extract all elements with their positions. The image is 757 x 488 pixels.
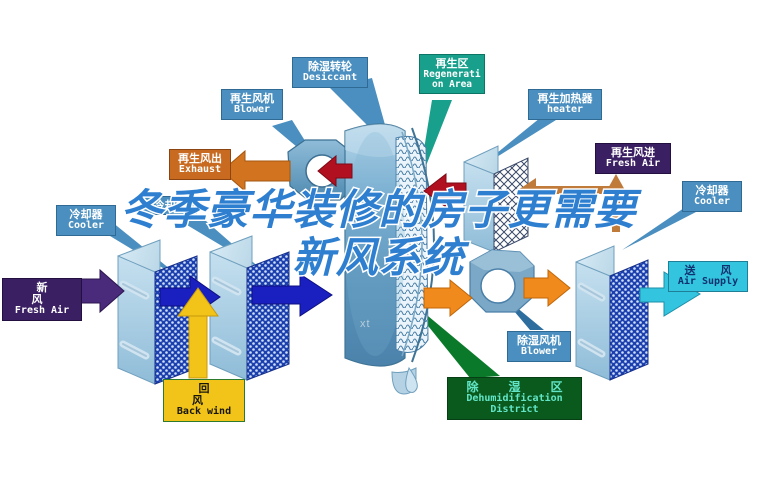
label-back-wind-en: Back wind xyxy=(166,407,242,418)
label-desiccant-wheel[interactable]: 除湿转轮 Desiccant xyxy=(292,57,368,88)
watermark-text: xt xyxy=(360,318,371,330)
label-cooler-left[interactable]: 冷却器 Cooler xyxy=(56,205,116,236)
label-dehumidification-district-en2: District xyxy=(450,405,579,416)
label-dehumidification-district[interactable]: 除 湿 区 Dehumidification District xyxy=(447,377,582,420)
label-cooler-right-en: Cooler xyxy=(685,197,739,208)
label-cooler-mid[interactable]: 冷却器 xyxy=(143,196,197,215)
label-regen-blower[interactable]: 再生风机 Blower xyxy=(221,89,283,120)
label-regeneration-heater[interactable]: 再生加热器 heater xyxy=(528,89,602,120)
desiccant-rotor-wheel xyxy=(345,124,434,366)
label-back-wind-cn: 回 风 xyxy=(166,383,242,407)
label-dehumidification-blower[interactable]: 除湿风机 Blower xyxy=(507,331,571,362)
label-back-wind[interactable]: 回 风 Back wind xyxy=(163,379,245,422)
label-regen-fresh-air-en: Fresh Air xyxy=(598,159,668,170)
label-cooler-left-en: Cooler xyxy=(59,221,113,232)
label-fresh-air-cn: 新 风 xyxy=(5,282,79,306)
label-dehumidification-district-cn: 除 湿 区 xyxy=(450,381,579,394)
label-regeneration-area[interactable]: 再生区 Regenerati on Area xyxy=(419,54,485,94)
condensate-drain xyxy=(392,368,417,394)
fresh-air-riser-arrow xyxy=(606,174,626,232)
label-cooler-mid-cn: 冷却器 xyxy=(146,200,194,212)
label-exhaust[interactable]: 再生风出 Exhaust xyxy=(169,149,231,180)
label-regeneration-heater-en: heater xyxy=(531,105,599,116)
label-dehumidification-blower-en: Blower xyxy=(510,347,568,358)
label-regen-blower-en: Blower xyxy=(224,105,280,116)
label-regeneration-area-en2: on Area xyxy=(422,80,482,90)
label-air-supply-en: Air Supply xyxy=(671,277,745,288)
label-exhaust-en: Exhaust xyxy=(172,165,228,176)
exhaust-arrow xyxy=(222,151,290,191)
dehumidifier-diagram: 除湿转轮 Desiccant 再生风机 Blower 再生风出 Exhaust … xyxy=(0,0,757,488)
cooler-coil-right xyxy=(210,236,289,380)
label-desiccant-wheel-en: Desiccant xyxy=(295,73,365,84)
label-fresh-air-en: Fresh Air xyxy=(5,306,79,317)
label-air-supply[interactable]: 送 风 Air Supply xyxy=(668,261,748,292)
diagram-artwork xyxy=(0,0,757,488)
label-regen-fresh-air[interactable]: 再生风进 Fresh Air xyxy=(595,143,671,174)
label-cooler-right[interactable]: 冷却器 Cooler xyxy=(682,181,742,212)
regeneration-heater-coil xyxy=(464,146,528,252)
heater-feed-arrow xyxy=(518,178,620,202)
supply-filter-box xyxy=(576,246,648,380)
label-fresh-air[interactable]: 新 风 Fresh Air xyxy=(2,278,82,321)
